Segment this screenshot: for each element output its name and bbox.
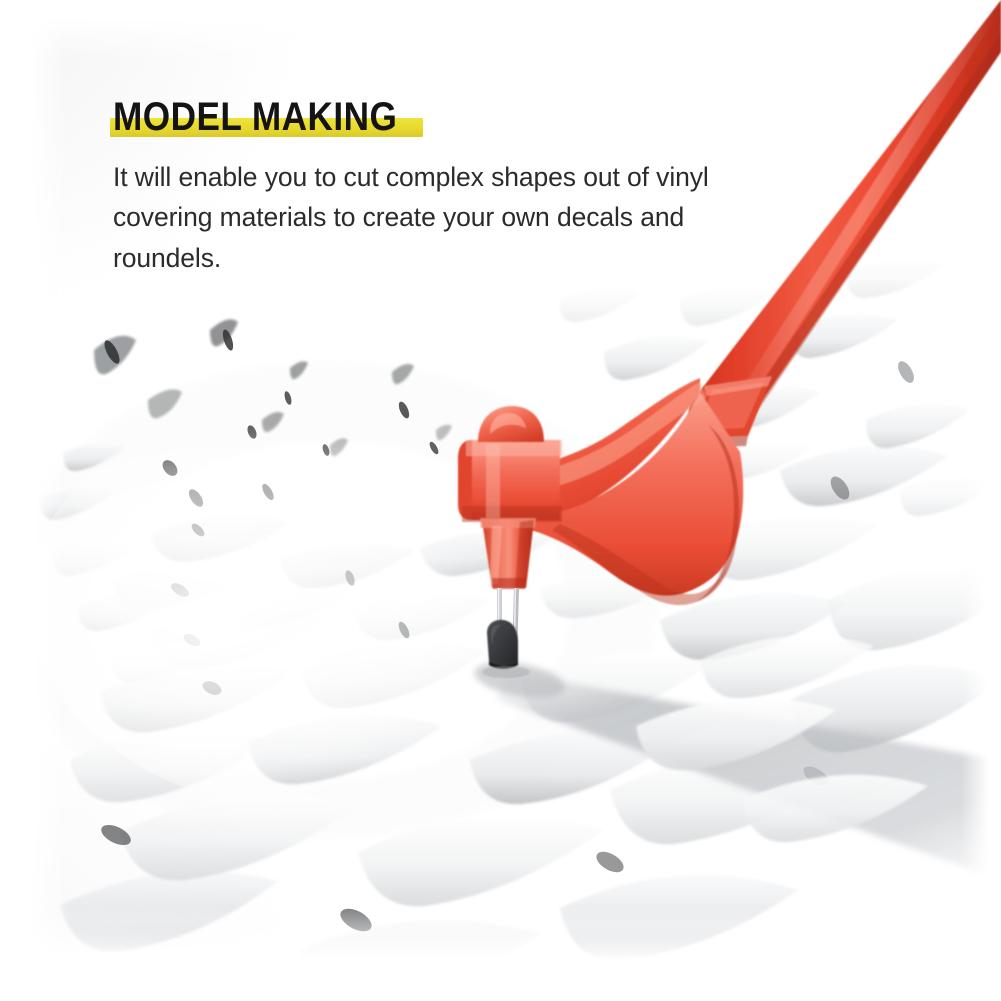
copy-block: MODEL MAKING It will enable you to cut c… [113, 96, 753, 278]
description-text: It will enable you to cut complex shapes… [113, 157, 728, 278]
headline-wrap: MODEL MAKING [113, 96, 440, 139]
product-banner: MODEL MAKING It will enable you to cut c… [0, 0, 1001, 1001]
page-title: MODEL MAKING [113, 96, 397, 139]
